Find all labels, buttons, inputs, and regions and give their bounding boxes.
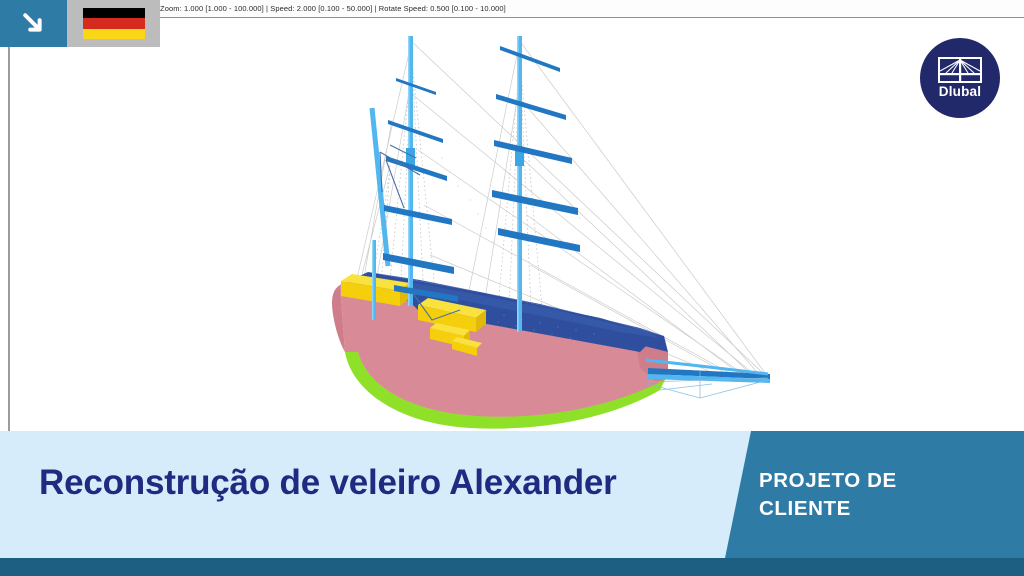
yards-fore	[382, 107, 458, 302]
project-tag: PROJETO DE CLIENTE	[704, 431, 1024, 558]
tag-line-2: CLIENTE	[759, 495, 1024, 522]
dlubal-wordmark: Dlubal	[939, 85, 981, 99]
arrow-badge[interactable]	[0, 0, 67, 47]
ship-3d-model[interactable]	[0, 0, 1024, 431]
mast-main	[515, 36, 524, 332]
cad-viewport[interactable]: ) | Zoom: 1.000 [1.000 - 100.000] | Spee…	[0, 0, 1024, 431]
slide-stage: ) | Zoom: 1.000 [1.000 - 100.000] | Spee…	[0, 0, 1024, 576]
mast-mizzen	[372, 240, 376, 320]
germany-flag-icon	[83, 8, 145, 40]
tag-line-1: PROJETO DE	[759, 467, 1024, 494]
title-banner: Reconstrução de veleiro Alexander PROJET…	[0, 431, 1024, 558]
arrow-down-right-icon	[19, 9, 49, 39]
dlubal-logo[interactable]: Dlubal	[920, 38, 1000, 118]
bottom-accent-bar	[0, 558, 1024, 576]
page-title: Reconstrução de veleiro Alexander	[39, 463, 617, 503]
flag-badge	[67, 0, 160, 47]
yards-upper-left	[396, 78, 436, 95]
dlubal-bridge-icon	[938, 57, 982, 83]
